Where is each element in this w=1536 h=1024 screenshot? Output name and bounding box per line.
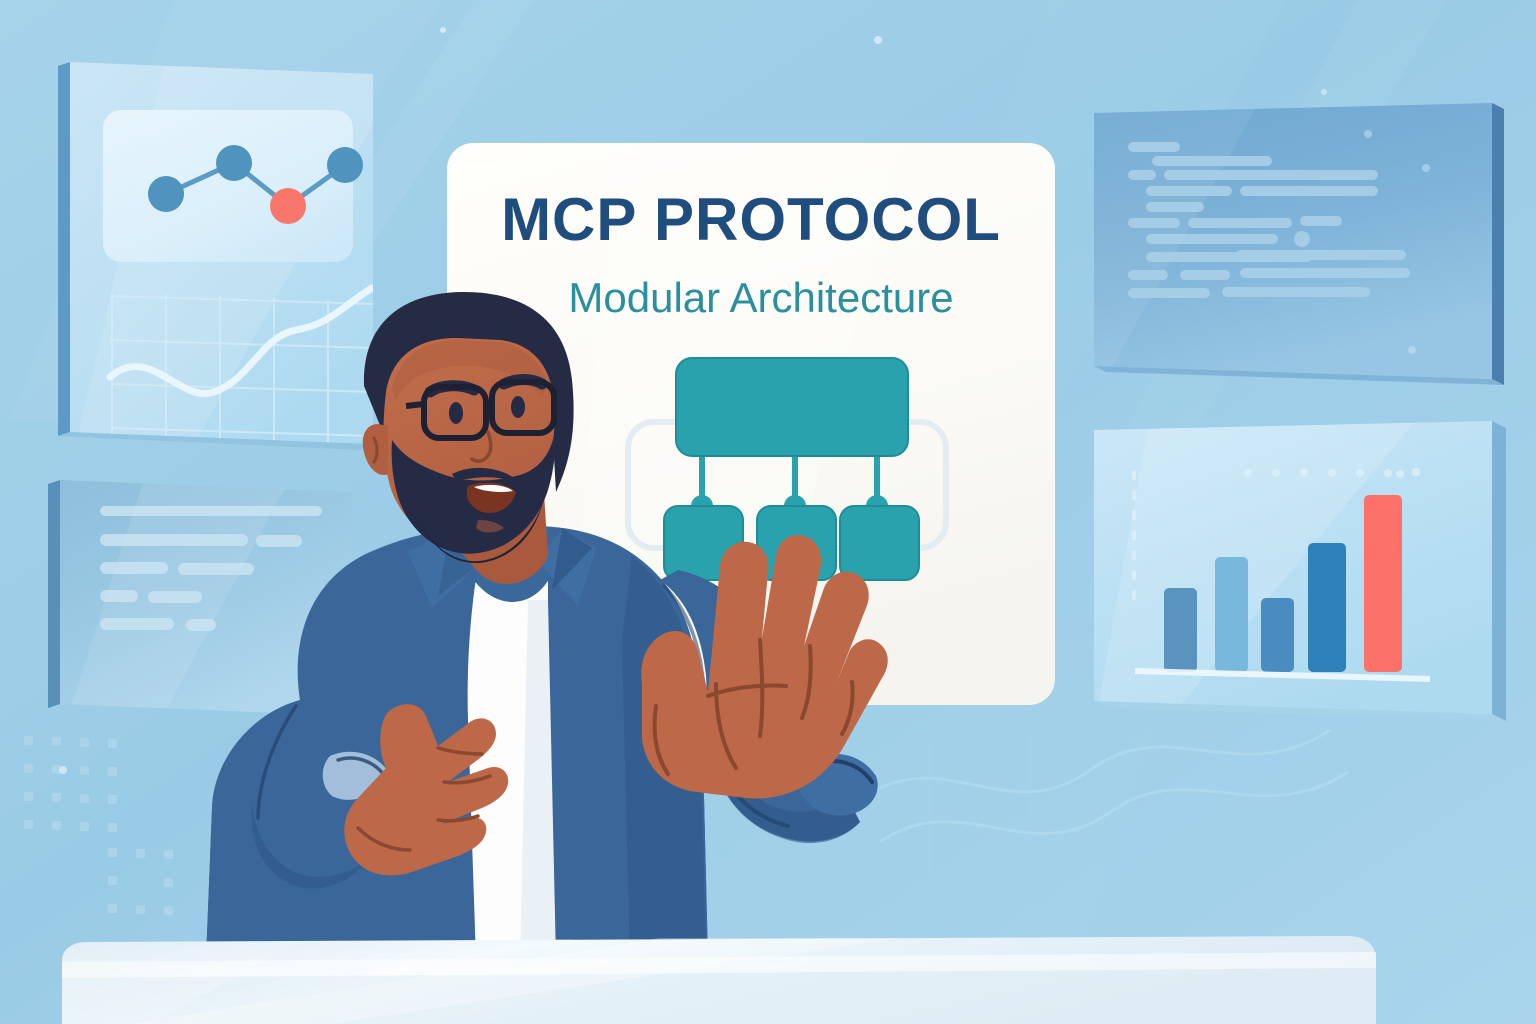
bar-chart-panel[interactable] (1094, 415, 1506, 730)
page-subtitle: Modular Architecture (568, 274, 953, 321)
bar-highlight (1364, 495, 1402, 672)
line-chart-node (327, 147, 363, 183)
bar (1215, 557, 1248, 672)
illustration-stage: MCP PROTOCOL Modular Architecture (0, 0, 1536, 1024)
presentation-counter (62, 936, 1376, 1024)
presenter-eye-right (511, 396, 525, 418)
panel-depth-edge (1492, 421, 1506, 721)
code-editor-panel[interactable] (1094, 100, 1504, 400)
line-chart-panel[interactable] (58, 40, 420, 470)
bar (1308, 543, 1346, 672)
panel-depth-edge (48, 480, 60, 708)
page-title: MCP PROTOCOL (501, 186, 1001, 253)
bar (1164, 588, 1197, 672)
presenter-eye-left (449, 402, 463, 424)
panel-depth-edge (58, 62, 70, 436)
diagram-root-module[interactable] (676, 358, 908, 456)
scene-svg: MCP PROTOCOL Modular Architecture (0, 0, 1536, 1024)
line-chart-node-highlight (270, 188, 306, 224)
panel-depth-edge (1492, 103, 1504, 385)
line-chart-node (216, 145, 252, 181)
line-chart-node (148, 176, 184, 212)
diagram-child-module-3[interactable] (840, 506, 919, 580)
bar (1261, 598, 1294, 672)
